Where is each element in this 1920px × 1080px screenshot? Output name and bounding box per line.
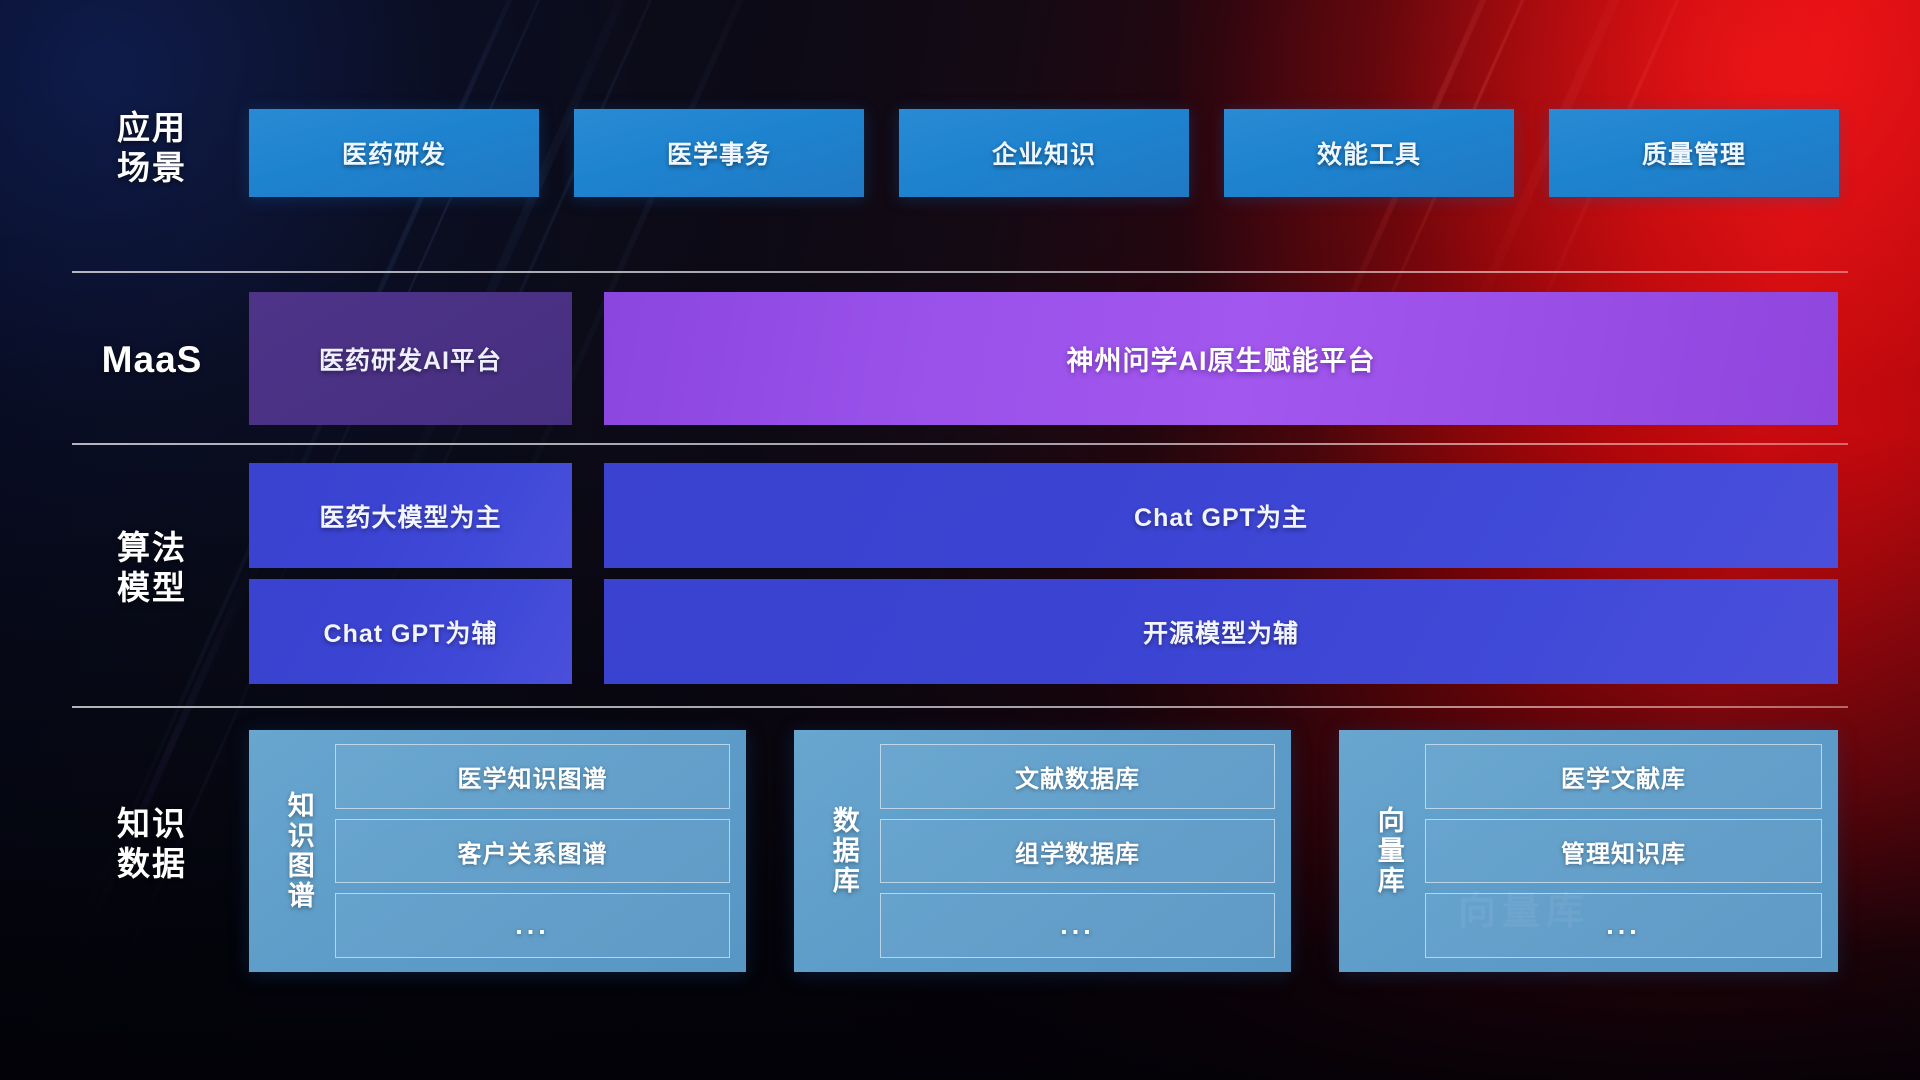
knowledge-item-medical-literature-library[interactable]: 医学文献库 (1425, 744, 1822, 809)
app-box-label: 质量管理 (1642, 135, 1746, 171)
knowledge-item-omics-database[interactable]: 组学数据库 (880, 819, 1275, 884)
algo-box-medicine-llm-primary[interactable]: 医药大模型为主 (249, 463, 572, 568)
app-box-label: 企业知识 (992, 135, 1096, 171)
knowledge-group-knowledge-graph: 知识图谱 医学知识图谱 客户关系图谱 ... (249, 730, 746, 972)
row-label-line-1: 算法 (72, 528, 232, 568)
maas-box-label: 神州问学AI原生赋能平台 (1067, 339, 1376, 378)
app-box-quality-management[interactable]: 质量管理 (1549, 109, 1839, 197)
knowledge-group-database: 数据库 文献数据库 组学数据库 ... (794, 730, 1291, 972)
maas-box-shenzhou-wenxue-platform[interactable]: 神州问学AI原生赋能平台 (604, 292, 1838, 425)
knowledge-item-list: 医学知识图谱 客户关系图谱 ... (335, 744, 730, 958)
algo-box-chatgpt-primary[interactable]: Chat GPT为主 (604, 463, 1838, 568)
row-label-line-1: 知识 (72, 804, 232, 844)
app-box-medical-affairs[interactable]: 医学事务 (574, 109, 864, 197)
row-label-line-2: 场景 (72, 148, 232, 188)
knowledge-item-list: 文献数据库 组学数据库 ... (880, 744, 1275, 958)
knowledge-item-management-knowledge-base[interactable]: 管理知识库 (1425, 819, 1822, 884)
algo-box-label: Chat GPT为主 (1134, 498, 1308, 534)
algo-box-opensource-secondary[interactable]: 开源模型为辅 (604, 579, 1838, 684)
row-label-text: MaaS (72, 337, 232, 382)
knowledge-group-title: 数据库 (806, 744, 880, 958)
knowledge-item-customer-relation-graph[interactable]: 客户关系图谱 (335, 819, 730, 884)
app-box-label: 医学事务 (667, 135, 771, 171)
algo-box-label: 开源模型为辅 (1143, 614, 1299, 650)
knowledge-item-medical-knowledge-graph[interactable]: 医学知识图谱 (335, 744, 730, 809)
algo-box-label: Chat GPT为辅 (324, 614, 498, 650)
knowledge-item-literature-database[interactable]: 文献数据库 (880, 744, 1275, 809)
row-label-line-1: 应用 (72, 108, 232, 148)
knowledge-group-title: 向量库 (1351, 744, 1425, 958)
row-label-algorithm-models: 算法 模型 (72, 528, 232, 609)
maas-box-medicine-ai-platform[interactable]: 医药研发AI平台 (249, 292, 572, 425)
knowledge-item-list: 医学文献库 管理知识库 ... (1425, 744, 1822, 958)
row-label-application-scenarios: 应用 场景 (72, 108, 232, 189)
app-box-medicine-rd[interactable]: 医药研发 (249, 109, 539, 197)
divider-line-1 (72, 271, 1848, 273)
maas-box-label: 医药研发AI平台 (319, 341, 502, 377)
divider-line-2 (72, 443, 1848, 445)
knowledge-item-more[interactable]: ... (1425, 893, 1822, 958)
architecture-diagram: 应用 场景 医药研发 医学事务 企业知识 效能工具 质量管理 MaaS 医药研发… (0, 0, 1920, 1080)
knowledge-group-vector-database: 向量库 医学文献库 管理知识库 ... (1339, 730, 1838, 972)
row-label-line-2: 数据 (72, 844, 232, 884)
divider-line-3 (72, 706, 1848, 708)
algo-box-label: 医药大模型为主 (319, 498, 501, 534)
knowledge-item-more[interactable]: ... (335, 893, 730, 958)
knowledge-group-title: 知识图谱 (261, 744, 335, 958)
row-label-maas: MaaS (72, 337, 232, 382)
app-box-enterprise-knowledge[interactable]: 企业知识 (899, 109, 1189, 197)
app-box-label: 医药研发 (342, 135, 446, 171)
knowledge-item-more[interactable]: ... (880, 893, 1275, 958)
algo-box-chatgpt-secondary[interactable]: Chat GPT为辅 (249, 579, 572, 684)
app-box-efficiency-tools[interactable]: 效能工具 (1224, 109, 1514, 197)
row-label-line-2: 模型 (72, 568, 232, 608)
row-label-knowledge-data: 知识 数据 (72, 804, 232, 885)
app-box-label: 效能工具 (1317, 135, 1421, 171)
